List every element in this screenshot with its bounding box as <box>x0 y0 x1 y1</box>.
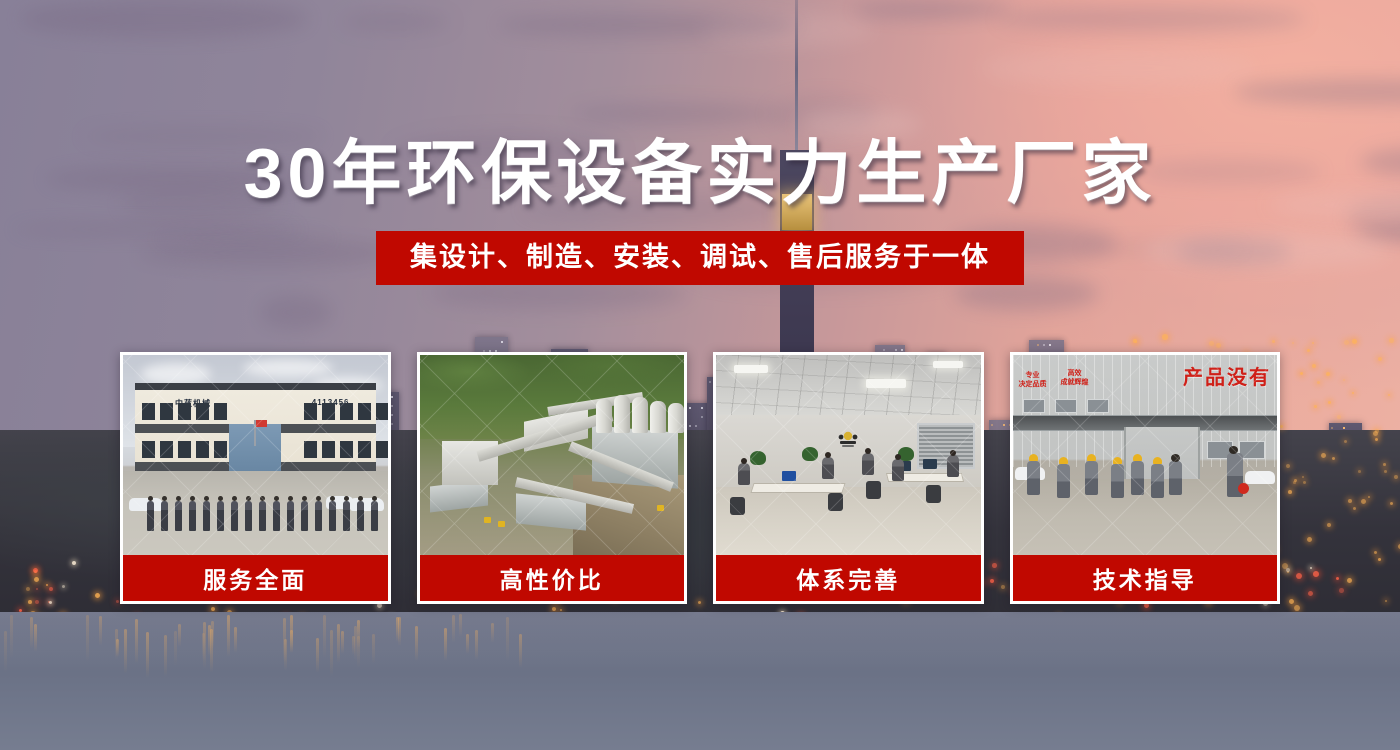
photo1-cloud <box>141 363 211 385</box>
photo3-ceiling-light <box>933 361 963 368</box>
card-caption: 高性价比 <box>420 555 685 601</box>
photo3-employee <box>738 463 750 485</box>
water-reflection <box>398 617 401 646</box>
photo1-staff-member <box>315 501 322 531</box>
photo2-silo <box>668 403 684 433</box>
skyline-light <box>1327 523 1331 527</box>
photo1-window <box>196 403 209 420</box>
water-reflection <box>459 614 462 637</box>
feature-card-service[interactable]: 中蓝机械 4113456 服务全面 <box>120 352 391 604</box>
shore-light <box>116 600 119 603</box>
photo1-staff-member <box>203 501 210 531</box>
photo1-window <box>358 403 371 420</box>
skyline-light <box>1378 558 1381 561</box>
photo1-window <box>160 441 173 458</box>
photo4-slogan-main: 产品没有 <box>1183 361 1271 390</box>
water-reflection <box>30 617 33 649</box>
photo1-staff-member <box>161 501 168 531</box>
photo1-staff-member <box>189 501 196 531</box>
photo1-window <box>304 403 317 420</box>
photo1-staff-member <box>273 501 280 531</box>
skyline-light <box>1312 364 1316 368</box>
water-reflection <box>357 620 360 648</box>
photo1-staff-member <box>301 501 308 531</box>
feature-card-training[interactable]: 产品没有 专业 决定品质 高效 成就辉煌 <box>1010 352 1281 604</box>
subtitle-container: 集设计、制造、安装、调试、售后服务于一体 <box>0 231 1400 285</box>
water-reflection <box>284 639 287 671</box>
water-reflection <box>506 617 509 661</box>
photo4-worker <box>1131 461 1144 495</box>
photo3-employee <box>862 453 874 475</box>
feature-card-system[interactable]: 体系完善 <box>713 352 984 604</box>
building-window <box>895 349 897 351</box>
photo-factory-workers: 产品没有 专业 决定品质 高效 成就辉煌 <box>1013 355 1278 555</box>
water-reflection <box>174 631 177 666</box>
photo4-worker <box>1085 461 1098 495</box>
photo3-wall-emblem <box>834 427 862 453</box>
water-reflection <box>234 627 237 653</box>
skyline-light <box>1317 381 1320 384</box>
card-caption: 服务全面 <box>123 555 388 601</box>
cloud <box>571 103 780 124</box>
water-reflection <box>337 624 340 663</box>
photo1-staff-member <box>217 501 224 531</box>
skyline-light <box>1326 372 1330 376</box>
feature-card-value[interactable]: 高性价比 <box>417 352 688 604</box>
skyline-light <box>1314 405 1317 408</box>
shore-light <box>1296 573 1302 579</box>
photo1-window <box>178 441 191 458</box>
photo4-slogan-small-1: 专业 <box>1026 372 1040 379</box>
water-reflection <box>164 635 167 677</box>
tower-spire <box>795 0 798 150</box>
photo1-staff-member <box>175 501 182 531</box>
water-reflection <box>452 615 455 643</box>
photo1-window <box>322 441 335 458</box>
shore-light <box>28 600 32 604</box>
page-title: 30年环保设备实力生产厂家 <box>0 136 1400 210</box>
cloud <box>497 13 800 37</box>
cloud <box>341 12 450 32</box>
photo4-window <box>1087 399 1109 413</box>
skyline-light <box>1321 453 1326 458</box>
water-reflection <box>124 629 127 674</box>
subtitle-banner: 集设计、制造、安装、调试、售后服务于一体 <box>376 231 1024 285</box>
photo1-window <box>178 403 191 420</box>
skyline-light <box>1162 334 1168 340</box>
photo1-car <box>129 498 163 511</box>
skyline-light <box>1344 440 1347 443</box>
photo1-window <box>214 441 227 458</box>
water-reflection <box>227 615 230 657</box>
photo4-worker <box>1057 464 1070 498</box>
photo1-staff-member <box>245 501 252 531</box>
water-reflection <box>290 615 293 653</box>
photo1-window <box>214 403 227 420</box>
skyline-light <box>1358 470 1361 473</box>
water-reflection <box>415 626 418 661</box>
building-window <box>1043 344 1045 346</box>
photo3-monitor <box>923 459 937 469</box>
photo1-window <box>322 403 335 420</box>
photo1-staff-member <box>231 501 238 531</box>
photo3-chair <box>828 493 843 511</box>
cloud <box>19 0 309 38</box>
cloud <box>853 1 1011 18</box>
skyline-light <box>1352 339 1357 344</box>
photo1-car <box>350 498 384 511</box>
water-reflection <box>444 628 447 661</box>
skyline-light <box>1303 481 1306 484</box>
skyline-light <box>1373 431 1378 436</box>
photo1-flag <box>254 420 256 446</box>
photo2-loader <box>498 521 505 527</box>
photo4-window <box>1055 399 1077 413</box>
skyline-light <box>1280 425 1283 428</box>
building-window <box>883 349 885 351</box>
photo3-ceiling-light <box>734 365 768 373</box>
photo1-window <box>160 403 173 420</box>
photo2-silo <box>614 395 630 433</box>
skyline-light <box>1394 475 1398 479</box>
water-reflection <box>466 634 469 654</box>
shore-light <box>1347 578 1352 583</box>
photo-plant-aerial <box>420 355 685 555</box>
feature-card-list: 中蓝机械 4113456 服务全面 <box>120 352 1280 604</box>
water-reflection <box>341 631 344 654</box>
photo2-loader <box>484 517 491 523</box>
photo1-window <box>358 441 371 458</box>
photo1-window <box>376 441 388 458</box>
photo3-laptop <box>782 471 796 481</box>
photo1-staff-member <box>357 501 364 531</box>
photo3-chair <box>730 497 745 515</box>
photo3-employee <box>892 459 904 481</box>
water-reflection <box>352 636 355 655</box>
shore-light <box>1313 571 1319 577</box>
photo-office-building: 中蓝机械 4113456 <box>123 355 388 555</box>
cloud <box>998 6 1306 32</box>
skyline-light <box>1294 479 1297 482</box>
photo1-window <box>340 441 353 458</box>
card-caption: 技术指导 <box>1013 555 1278 601</box>
skyline-light <box>1374 551 1377 554</box>
water-reflection <box>316 638 319 673</box>
shore-light <box>1294 605 1300 611</box>
water-reflection <box>330 630 333 677</box>
photo4-worker <box>1111 464 1124 498</box>
photo2-loader <box>657 505 664 511</box>
water-reflection <box>10 615 13 658</box>
skyline-light <box>1389 338 1394 343</box>
shore-light <box>1286 568 1290 572</box>
water-reflection <box>34 624 37 652</box>
photo4-worker <box>1151 464 1164 498</box>
water-reflection <box>475 630 478 660</box>
water-reflection <box>135 619 138 664</box>
photo1-window <box>196 441 209 458</box>
photo4-slogan-small-3: 高效 <box>1068 370 1082 377</box>
photo1-cloud <box>243 359 333 377</box>
photo4-worker <box>1169 461 1182 495</box>
water-reflection <box>519 634 522 668</box>
skyline-light <box>1216 343 1221 348</box>
photo4-slogan-small-4: 成就辉煌 <box>1061 379 1089 386</box>
water-reflection <box>211 621 214 649</box>
photo2-silo <box>650 401 666 433</box>
photo4-red-helmet <box>1238 483 1249 494</box>
photo3-plant <box>802 447 818 461</box>
card-caption: 体系完善 <box>716 555 981 601</box>
photo-office-interior <box>716 355 981 555</box>
skyline-light <box>1384 470 1387 473</box>
photo1-staff-member <box>329 501 336 531</box>
photo4-slogan-small-a: 专业 决定品质 <box>1019 371 1047 389</box>
shore-light <box>26 587 30 591</box>
water-reflection <box>116 639 119 657</box>
photo4-vehicle <box>1245 471 1275 484</box>
photo3-chair <box>926 485 941 503</box>
building-window <box>1049 344 1051 346</box>
cloud <box>980 50 1257 86</box>
photo1-staff-member <box>287 501 294 531</box>
skyline-light <box>1133 339 1137 343</box>
skyline-light <box>1307 537 1312 542</box>
photo1-staff-member <box>147 501 154 531</box>
photo3-employee <box>822 457 834 479</box>
photo3-employee <box>947 455 959 477</box>
photo1-window <box>304 441 317 458</box>
skyline-light <box>1288 490 1292 494</box>
water-reflection <box>203 622 206 669</box>
photo3-ceiling-light <box>866 379 906 388</box>
photo4-worker <box>1027 461 1040 495</box>
water-reflection <box>178 624 181 647</box>
banner-stage: 30年环保设备实力生产厂家 集设计、制造、安装、调试、售后服务于一体 中蓝机械 … <box>0 0 1400 750</box>
skyline-light <box>1375 438 1378 441</box>
building-window <box>1331 427 1333 429</box>
photo2-silo <box>632 397 648 433</box>
skyline-light <box>1348 499 1352 503</box>
photo1-staff-member <box>371 501 378 531</box>
water-reflection <box>323 615 326 658</box>
building-window <box>901 349 903 351</box>
photo3-plant <box>750 451 766 465</box>
photo1-staff-member <box>343 501 350 531</box>
photo4-window <box>1023 399 1045 413</box>
photo3-desk <box>750 483 845 493</box>
shore-light <box>1339 588 1344 593</box>
photo3-floor <box>716 487 981 555</box>
water-reflection <box>491 623 494 643</box>
photo1-window <box>340 403 353 420</box>
water-reflection <box>372 634 375 664</box>
skyline-light <box>1328 401 1331 404</box>
photo1-window <box>142 403 155 420</box>
building-window <box>1343 427 1345 429</box>
photo4-slogan-small-2: 决定品质 <box>1019 381 1047 388</box>
building-window <box>1037 344 1039 346</box>
water-reflection <box>86 615 89 662</box>
building-window <box>501 341 503 343</box>
photo4-slogan-small-b: 高效 成就辉煌 <box>1061 369 1089 387</box>
skyline-light <box>1383 463 1386 466</box>
photo1-staff-member <box>259 501 266 531</box>
water-reflection <box>4 631 7 673</box>
photo1-window <box>376 403 388 420</box>
photo3-chair <box>866 481 881 499</box>
photo1-window <box>142 441 155 458</box>
water-reflection <box>99 616 102 646</box>
photo2-silo <box>596 399 612 433</box>
water-reflection <box>146 632 149 678</box>
